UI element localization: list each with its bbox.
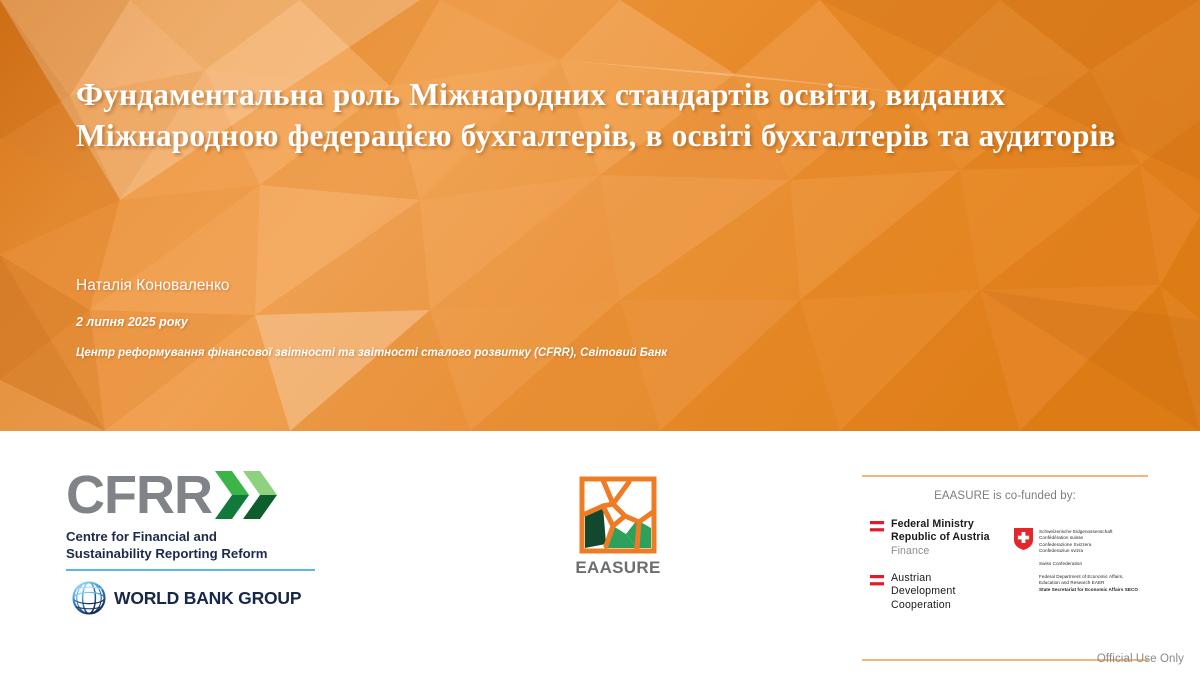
austria-ministry-line3: Finance bbox=[891, 545, 990, 559]
swiss-line3: Confederazione Svizzera bbox=[1039, 542, 1138, 549]
organization-line: Центр реформування фінансової звітності … bbox=[76, 346, 876, 361]
swiss-line1: Schweizerische Eidgenossenschaft bbox=[1039, 529, 1138, 536]
austria-flag-icon-2 bbox=[870, 575, 884, 586]
world-bank-text: WORLD BANK GROUP bbox=[114, 588, 301, 609]
eaasure-logo: EAASURE bbox=[558, 476, 678, 578]
globe-icon bbox=[71, 580, 107, 616]
cfrr-letters: CFRR bbox=[66, 469, 212, 521]
swiss-line7: Education and Research EAER bbox=[1039, 580, 1138, 587]
presentation-date: 2 липня 2025 року bbox=[76, 314, 876, 330]
eaasure-mark-icon bbox=[579, 476, 657, 554]
eaasure-label: EAASURE bbox=[558, 558, 678, 578]
austria-flag-icon bbox=[870, 521, 884, 532]
swiss-line2: Confédération suisse bbox=[1039, 535, 1138, 542]
swiss-shield-icon bbox=[1014, 528, 1033, 550]
swiss-line6: Federal Department of Economic Affairs, bbox=[1039, 574, 1138, 581]
cfrr-divider bbox=[66, 569, 315, 571]
cfrr-tagline-line1: Centre for Financial and bbox=[66, 528, 316, 545]
official-use-label: Official Use Only bbox=[1097, 653, 1184, 665]
cofunding-heading: EAASURE is co-funded by: bbox=[862, 490, 1148, 502]
swiss-line8: State Secretariat for Economic Affairs S… bbox=[1039, 587, 1138, 594]
austria-ministry-line2: Republic of Austria bbox=[891, 531, 990, 545]
byline-block: Наталія Коноваленко 2 липня 2025 року Це… bbox=[76, 276, 876, 361]
hero-banner: Фундаментальна роль Міжнародних стандарт… bbox=[0, 0, 1200, 431]
austria-development-logo: Austrian Development Cooperation bbox=[870, 572, 956, 613]
polygon-texture-svg bbox=[0, 0, 1200, 431]
austria-development-line2: Development bbox=[891, 585, 956, 599]
swiss-line4: Confederaziun svizra bbox=[1039, 548, 1138, 555]
cofunding-top-rule bbox=[862, 475, 1148, 477]
cfrr-tagline: Centre for Financial and Sustainability … bbox=[66, 528, 316, 562]
author-name: Наталія Коноваленко bbox=[76, 276, 876, 296]
footer-logo-bar: CFRR Centre for Financial and Sustainabi… bbox=[0, 431, 1200, 675]
swiss-line5: Swiss Confederation bbox=[1039, 561, 1138, 568]
cofunding-logos: Federal Ministry Republic of Austria Fin… bbox=[862, 518, 1148, 638]
world-bank-logo: WORLD BANK GROUP bbox=[66, 580, 316, 616]
cfrr-chevron-icon bbox=[215, 471, 277, 519]
title-block: Фундаментальна роль Міжнародних стандарт… bbox=[76, 74, 1136, 156]
austria-development-text: Austrian Development Cooperation bbox=[891, 572, 956, 613]
low-poly-background bbox=[0, 0, 1200, 431]
austria-ministry-line1: Federal Ministry bbox=[891, 518, 990, 532]
swiss-confederation-logo: Schweizerische Eidgenossenschaft Confédé… bbox=[1014, 528, 1138, 594]
austria-development-line3: Cooperation bbox=[891, 599, 956, 613]
swiss-text-block: Schweizerische Eidgenossenschaft Confédé… bbox=[1039, 528, 1138, 594]
austria-ministry-logo: Federal Ministry Republic of Austria Fin… bbox=[870, 518, 990, 559]
cfrr-tagline-line2: Sustainability Reporting Reform bbox=[66, 545, 316, 562]
presentation-slide: Фундаментальна роль Міжнародних стандарт… bbox=[0, 0, 1200, 675]
cofunding-panel: EAASURE is co-funded by: Federal Ministr… bbox=[862, 475, 1148, 661]
cfrr-wordmark: CFRR bbox=[66, 469, 316, 521]
austria-development-line1: Austrian bbox=[891, 572, 956, 586]
cfrr-logo: CFRR Centre for Financial and Sustainabi… bbox=[66, 469, 316, 616]
page-title: Фундаментальна роль Міжнародних стандарт… bbox=[76, 74, 1136, 156]
austria-ministry-text: Federal Ministry Republic of Austria Fin… bbox=[891, 518, 990, 559]
